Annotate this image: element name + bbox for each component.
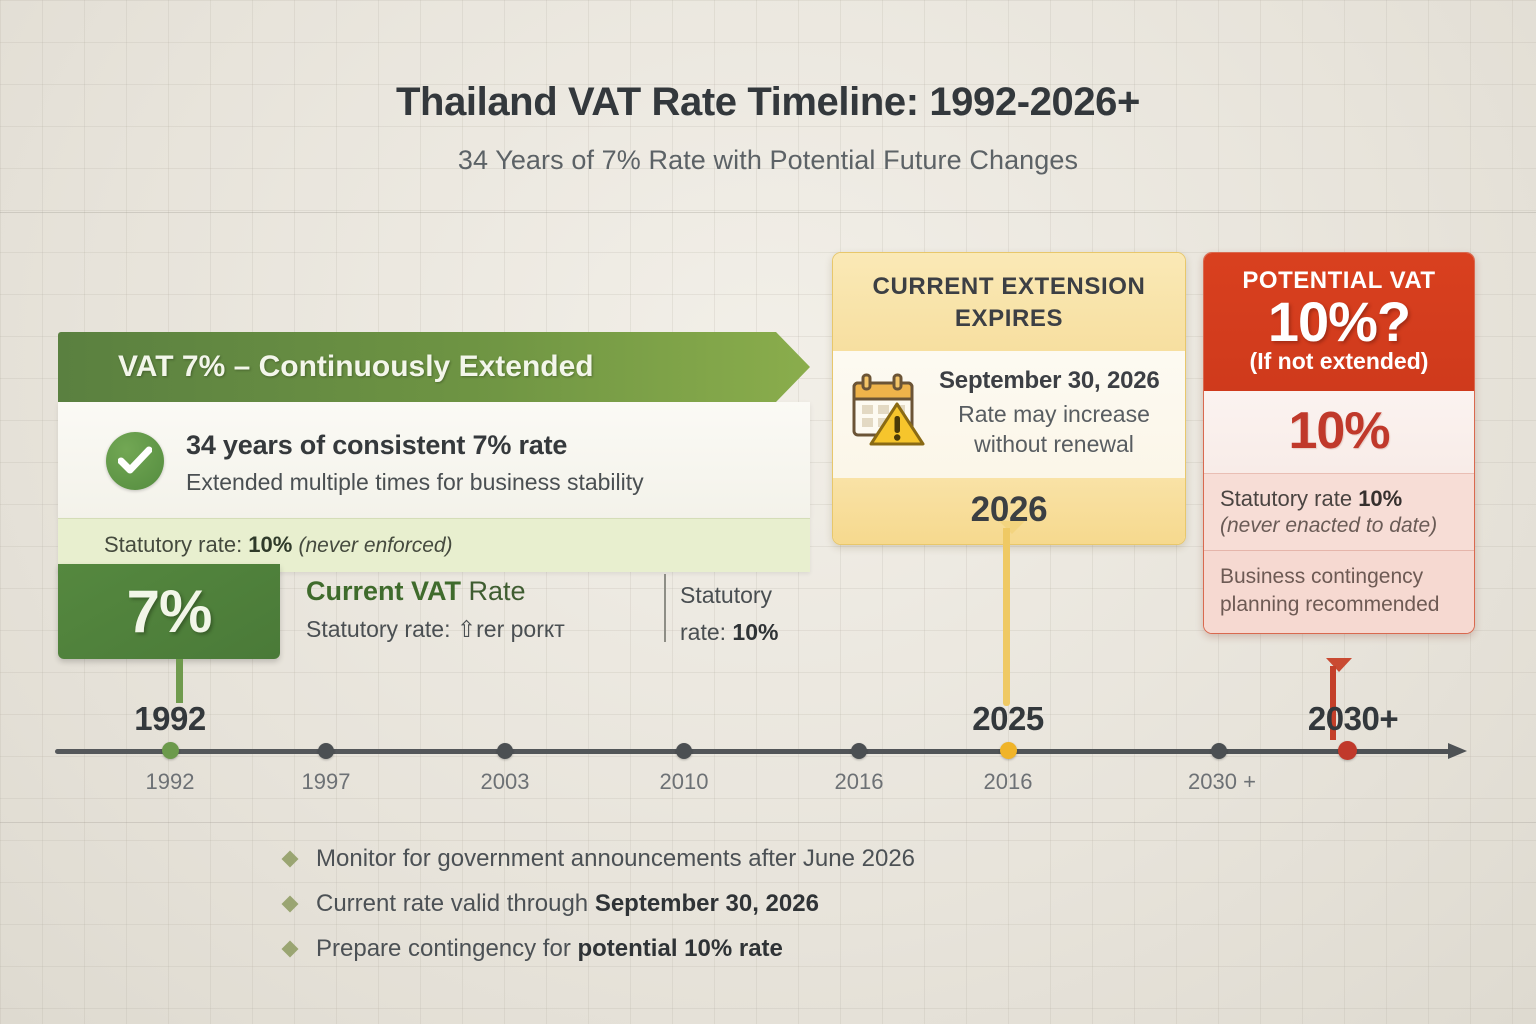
list-item: Prepare contingency for potential 10% ra… <box>284 935 1184 963</box>
timeline-dot-1992[interactable] <box>162 742 179 759</box>
footer-bullet-list: Monitor for government announcements aft… <box>284 845 1184 980</box>
current-rate-badge: 7% <box>58 564 280 659</box>
green-statutory-value: 10% <box>248 532 292 557</box>
green-point-primary: 34 years of consistent 7% rate <box>186 430 644 461</box>
page-title: Thailand VAT Rate Timeline: 1992-2026+ <box>0 80 1536 125</box>
potential-big-rate: 10% <box>1204 391 1474 473</box>
tick-label-5: 2016 <box>938 769 1078 795</box>
potential-contingency-note: Business contingency planning recommende… <box>1204 550 1474 632</box>
diamond-bullet-icon <box>282 896 299 913</box>
bullet-1-bold: September 30, 2026 <box>595 890 819 917</box>
timeline-big-year-1992: 1992 <box>75 700 265 738</box>
potential-header-note: (If not extended) <box>1214 348 1464 375</box>
statutory-side-line2-value: 10% <box>732 619 778 645</box>
green-panel-header: VAT 7% – Continuously Extended <box>58 332 810 402</box>
contingency-line1: Business contingency <box>1220 565 1423 588</box>
timeline-arrow-icon <box>1448 743 1467 759</box>
potential-headline: 10%? <box>1214 293 1464 350</box>
current-rate-title-rest: Rate <box>461 576 526 606</box>
timeline-dot-1997[interactable] <box>318 743 334 759</box>
green-panel-body: 34 years of consistent 7% rate Extended … <box>58 402 810 518</box>
statutory-side-note: Statutory rate: 10% <box>680 577 840 652</box>
timeline-big-year-2025: 2025 <box>913 700 1103 738</box>
timeline-dot-2010[interactable] <box>676 743 692 759</box>
check-circle-icon <box>106 432 164 490</box>
tick-label-3: 2010 <box>614 769 754 795</box>
header-divider <box>0 212 1536 213</box>
timeline-dot-2003[interactable] <box>497 743 513 759</box>
potential-statutory-note: (never enacted to date) <box>1220 514 1460 538</box>
bullet-0-text: Monitor for government announcements aft… <box>316 845 915 872</box>
green-statutory-prefix: Statutory rate: <box>104 532 248 557</box>
green-statutory-note: (never enforced) <box>298 534 452 557</box>
extension-card-body: September 30, 2026 Rate may increase wit… <box>833 351 1185 478</box>
page-subtitle: 34 Years of 7% Rate with Potential Futur… <box>0 145 1536 176</box>
potential-statutory-prefix: Statutory rate <box>1220 486 1358 511</box>
extension-header-line1: CURRENT EXTENSION <box>847 271 1171 303</box>
extension-header-line2: EXPIRES <box>847 303 1171 335</box>
tick-label-4: 2016 <box>789 769 929 795</box>
extension-card-header: CURRENT EXTENSION EXPIRES <box>833 253 1185 351</box>
yellow-connector-stem <box>1003 528 1010 706</box>
bullet-2-bold: potential 10% rate <box>577 935 782 962</box>
tick-label-0: 1992 <box>100 769 240 795</box>
current-rate-text: Current VAT Rate Statutory rate: ⇧rer po… <box>306 576 646 643</box>
green-panel-header-label: VAT 7% – Continuously Extended <box>118 350 594 384</box>
timeline-big-year-2030p: 2030+ <box>1258 700 1448 738</box>
footer-divider <box>0 822 1536 823</box>
timeline-axis <box>55 749 1450 754</box>
statutory-side-line2-prefix: rate: <box>680 619 732 645</box>
extension-expiry-date: September 30, 2026 <box>939 367 1169 395</box>
diamond-bullet-icon <box>282 851 299 868</box>
current-rate-sub-prefix: Statutory rate: <box>306 616 457 642</box>
extension-note-line2: without renewal <box>974 431 1134 457</box>
list-item: Current rate valid through September 30,… <box>284 890 1184 918</box>
timeline-dot-2030[interactable] <box>1211 743 1227 759</box>
tick-label-2: 2003 <box>435 769 575 795</box>
current-rate-sub-garbled: ⇧rer porкт <box>457 616 565 642</box>
tick-label-1: 1997 <box>256 769 396 795</box>
green-connector-stem <box>176 659 183 703</box>
calendar-warning-icon <box>849 373 927 449</box>
current-rate-row: 7% Current VAT Rate Statutory rate: ⇧rer… <box>58 564 788 664</box>
timeline-dot-2016b[interactable] <box>1000 742 1017 759</box>
potential-vat-card: POTENTIAL VAT 10%? (If not extended) 10%… <box>1203 252 1475 634</box>
potential-card-header: POTENTIAL VAT 10%? (If not extended) <box>1204 253 1474 391</box>
timeline-dot-2016a[interactable] <box>851 743 867 759</box>
statutory-side-line1: Statutory <box>680 577 840 614</box>
extension-expiry-card: CURRENT EXTENSION EXPIRES <box>832 252 1186 545</box>
current-rate-value: 7% <box>127 577 212 646</box>
green-point-secondary: Extended multiple times for business sta… <box>186 469 644 496</box>
timeline-dot-2030plus[interactable] <box>1338 741 1357 760</box>
tick-label-6: 2030 + <box>1152 769 1292 795</box>
potential-statutory-value: 10% <box>1358 486 1402 511</box>
infographic-canvas: Thailand VAT Rate Timeline: 1992-2026+ 3… <box>0 0 1536 1024</box>
extension-note-line1: Rate may increase <box>958 401 1150 427</box>
current-rate-title-bold: Current VAT <box>306 576 461 606</box>
potential-statutory-strip: Statutory rate 10% (never enacted to dat… <box>1204 473 1474 550</box>
bullet-1-text: Current rate valid through <box>316 890 595 917</box>
contingency-line2: planning recommended <box>1220 593 1439 616</box>
green-vat-panel: VAT 7% – Continuously Extended 34 years … <box>58 332 810 572</box>
bullet-2-text: Prepare contingency for <box>316 935 577 962</box>
list-item: Monitor for government announcements aft… <box>284 845 1184 873</box>
rate-divider <box>664 574 666 642</box>
diamond-bullet-icon <box>282 941 299 958</box>
